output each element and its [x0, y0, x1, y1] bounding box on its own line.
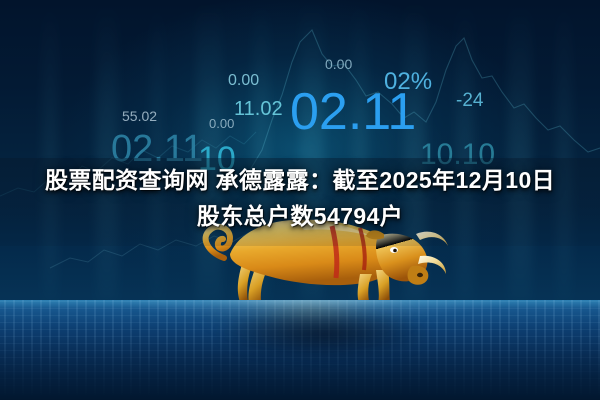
- news-cover-image: 0.0055.0211.020.0002.110.0002%-2402.1110…: [0, 0, 600, 400]
- background-number: -24: [456, 90, 483, 112]
- background-number: 0.00: [209, 116, 234, 131]
- headline-text: 股票配资查询网 承德露露：截至2025年12月10日 股东总户数54794户: [0, 162, 600, 234]
- headline-line-2: 股东总户数54794户: [0, 198, 600, 234]
- bull-nostril: [417, 273, 423, 277]
- background-number: 11.02: [234, 98, 283, 121]
- bull-pupil: [393, 249, 397, 253]
- headline-line-1: 股票配资查询网 承德露露：截至2025年12月10日: [45, 167, 555, 193]
- background-number: 02.11: [290, 82, 416, 142]
- bull-shadow: [215, 308, 435, 360]
- reflective-floor: [0, 300, 600, 400]
- background-number: 0.00: [325, 56, 352, 72]
- background-number: 0.00: [228, 72, 259, 90]
- background-number: 55.02: [122, 108, 157, 124]
